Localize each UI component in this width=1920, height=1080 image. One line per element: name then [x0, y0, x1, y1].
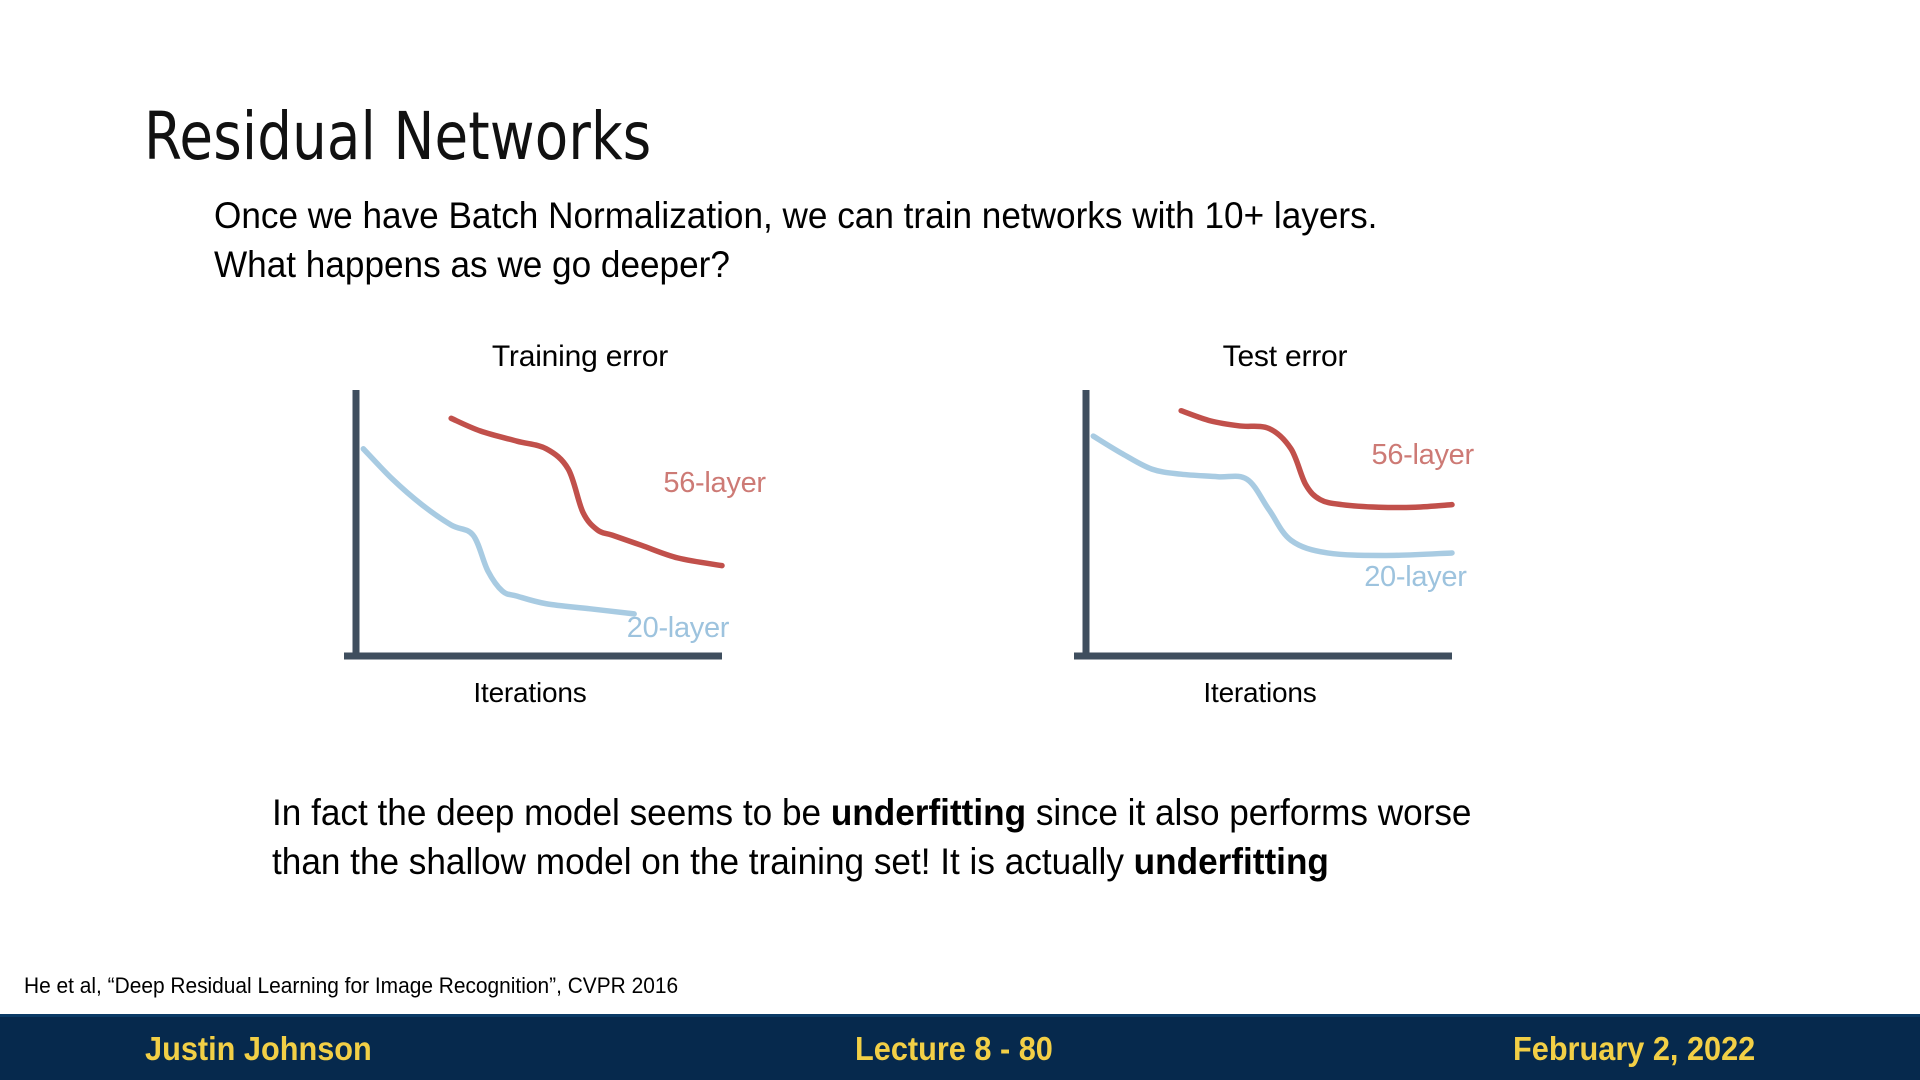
- chart-title-test: Test error: [1005, 340, 1565, 374]
- charts-row: Training error 56-layer 20-layer Iterati…: [0, 340, 1920, 750]
- label-56-layer-training: 56-layer: [663, 467, 766, 499]
- training-error-plot: 56-layer 20-layer Iterations: [330, 384, 890, 724]
- footer-date: February 2, 2022: [1513, 1030, 1755, 1068]
- conclusion-line1-part-a: In fact the deep model seems to be: [272, 792, 831, 833]
- conclusion-paragraph: In fact the deep model seems to be under…: [272, 788, 1716, 886]
- slide-canvas: Residual Networks Once we have Batch Nor…: [0, 0, 1920, 1080]
- conclusion-line2-part-a: than the shallow model on the training s…: [272, 841, 1134, 882]
- label-56-layer-test: 56-layer: [1372, 439, 1475, 471]
- citation-text: He et al, “Deep Residual Learning for Im…: [24, 973, 678, 999]
- chart-test-error: Test error 56-layer 20-layer Iterations: [1060, 340, 1620, 750]
- conclusion-line-2: than the shallow model on the training s…: [272, 837, 1716, 886]
- chart-training-error: Training error 56-layer 20-layer Iterati…: [330, 340, 890, 750]
- conclusion-line1-bold: underfitting: [831, 792, 1026, 833]
- chart-title-training: Training error: [300, 340, 860, 374]
- conclusion-line2-bold: underfitting: [1134, 841, 1329, 882]
- conclusion-line1-part-b: since it also performs worse: [1026, 792, 1471, 833]
- intro-line-1: Once we have Batch Normalization, we can…: [214, 192, 1649, 241]
- label-20-layer-training: 20-layer: [627, 612, 730, 644]
- intro-paragraph: Once we have Batch Normalization, we can…: [214, 192, 1649, 290]
- x-axis-caption-training: Iterations: [473, 677, 586, 708]
- footer-lecture-number: Lecture 8 - 80: [855, 1030, 1053, 1068]
- page-title: Residual Networks: [144, 102, 651, 171]
- curve-20-layer-training: [363, 449, 634, 614]
- label-20-layer-test: 20-layer: [1364, 561, 1467, 593]
- intro-line-2: What happens as we go deeper?: [214, 241, 1649, 290]
- x-axis-caption-test: Iterations: [1203, 677, 1316, 708]
- test-error-plot: 56-layer 20-layer Iterations: [1060, 384, 1620, 724]
- slide-footer: Justin Johnson Lecture 8 - 80 February 2…: [0, 1014, 1920, 1080]
- conclusion-line-1: In fact the deep model seems to be under…: [272, 788, 1716, 837]
- footer-author: Justin Johnson: [145, 1030, 372, 1068]
